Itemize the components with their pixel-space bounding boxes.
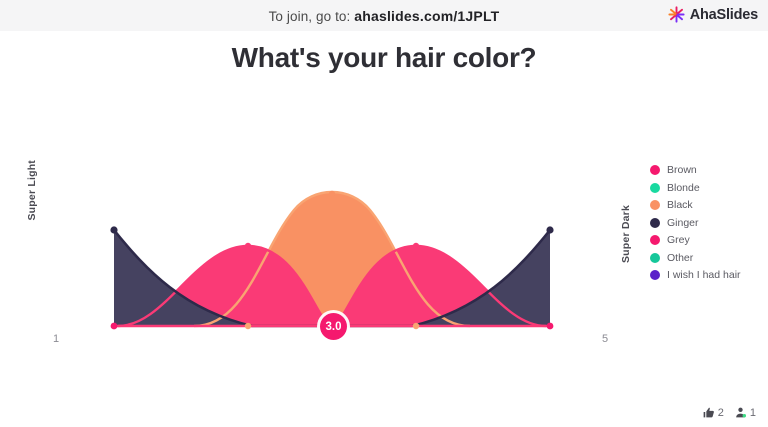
point-marker xyxy=(329,191,335,197)
people-count: 1 xyxy=(750,407,756,419)
plot-area xyxy=(56,150,608,330)
point-marker xyxy=(413,243,419,249)
people-counter: 1 xyxy=(734,406,756,419)
page-title: What's your hair color? xyxy=(0,42,768,74)
chart-legend: Brown Blonde Black Ginger Grey Other I w… xyxy=(650,164,741,281)
legend-color-dot xyxy=(650,183,660,193)
legend-color-dot xyxy=(650,218,660,228)
average-badge: 3.0 xyxy=(320,313,347,340)
point-marker xyxy=(546,226,553,233)
vote-counter: 2 xyxy=(702,406,724,419)
legend-color-dot xyxy=(650,235,660,245)
point-marker xyxy=(111,323,118,330)
legend-label: Blonde xyxy=(667,182,700,194)
point-marker xyxy=(110,226,117,233)
point-marker xyxy=(547,323,554,330)
legend-item-grey[interactable]: Grey xyxy=(650,234,741,246)
legend-label: Black xyxy=(667,199,693,211)
legend-item-other[interactable]: Other xyxy=(650,252,741,264)
brand-name: AhaSlides xyxy=(690,7,758,23)
join-instruction: To join, go to: ahaslides.com/1JPLT xyxy=(269,8,500,24)
join-prefix: To join, go to: xyxy=(269,9,351,24)
legend-item-i-wish-i-had-hair[interactable]: I wish I had hair xyxy=(650,269,741,281)
legend-label: I wish I had hair xyxy=(667,269,741,281)
legend-color-dot xyxy=(650,270,660,280)
legend-item-blonde[interactable]: Blonde xyxy=(650,182,741,194)
sparkle-icon xyxy=(667,5,686,24)
person-icon xyxy=(734,406,747,419)
legend-label: Grey xyxy=(667,234,690,246)
x-tick-max: 5 xyxy=(602,333,608,345)
axis-label-super-light: Super Light xyxy=(26,160,38,221)
legend-color-dot xyxy=(650,165,660,175)
top-bar: To join, go to: ahaslides.com/1JPLT AhaS… xyxy=(0,0,768,31)
chart-svg xyxy=(56,150,608,330)
join-code[interactable]: ahaslides.com/1JPLT xyxy=(354,8,499,24)
x-tick-min: 1 xyxy=(53,333,59,345)
legend-color-dot xyxy=(650,253,660,263)
point-marker xyxy=(413,323,419,329)
footer-counters: 2 1 xyxy=(702,406,756,419)
legend-item-ginger[interactable]: Ginger xyxy=(650,217,741,229)
legend-label: Other xyxy=(667,252,693,264)
legend-label: Brown xyxy=(667,164,697,176)
axis-label-super-dark: Super Dark xyxy=(620,205,632,263)
point-marker xyxy=(245,243,251,249)
brand-logo: AhaSlides xyxy=(667,5,758,24)
legend-item-brown[interactable]: Brown xyxy=(650,164,741,176)
point-marker xyxy=(245,323,251,329)
vote-count: 2 xyxy=(718,407,724,419)
legend-label: Ginger xyxy=(667,217,699,229)
vote-hand-icon xyxy=(702,406,715,419)
legend-item-black[interactable]: Black xyxy=(650,199,741,211)
legend-color-dot xyxy=(650,200,660,210)
